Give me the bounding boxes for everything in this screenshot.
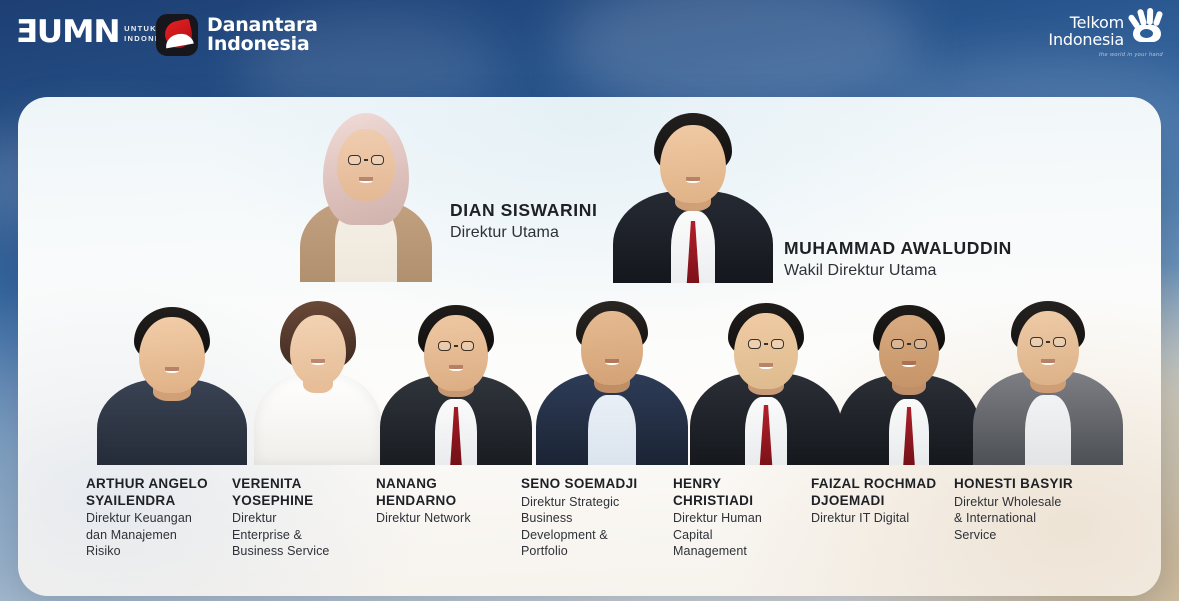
smile [165,367,179,373]
person-name: MUHAMMAD AWALUDDIN [784,237,1034,259]
glasses [348,155,384,165]
label-nanang-hendarno: NANANG HENDARNO Direktur Network [376,476,516,527]
presentation-slide: ƎUMN UNTUK INDONESIA Danantara Indonesia… [0,0,1179,601]
face [734,313,798,389]
telkom-logo: Telkom Indonesia the world in your hand [1035,8,1165,58]
label-faizal-rochmad-djoemadi: FAIZAL ROCHMAD DJOEMADI Direktur IT Digi… [811,476,961,527]
smile [449,365,463,371]
bumn-logo: ƎUMN UNTUK INDONESIA [18,17,178,48]
attire-shirt [1025,395,1071,465]
telkom-hand-icon [1129,8,1165,44]
person-role: Direktur IT Digital [811,510,961,527]
face [424,315,488,391]
person-role: Direktur Keuangan dan Manajemen Risiko [86,510,236,560]
smile [359,177,373,183]
portrait-arthur-angelo-syailendra [92,305,252,465]
portrait-muhammad-awaluddin [608,111,778,283]
person-name: FAIZAL ROCHMAD DJOEMADI [811,476,961,509]
person-role: Direktur Network [376,510,516,527]
danantara-wordmark: Danantara Indonesia [207,16,318,55]
person-role: Direktur Strategic Business Development … [521,494,666,560]
face [879,315,939,387]
person-name: HONESTI BASYIR [954,476,1104,493]
label-muhammad-awaluddin: MUHAMMAD AWALUDDIN Wakil Direktur Utama [784,237,1034,281]
person-name: HENRY CHRISTIADI [673,476,808,509]
bumn-wordmark: ƎUMN [16,17,120,48]
person-name: VERENITA YOSEPHINE [232,476,362,509]
label-arthur-angelo-syailendra: ARTHUR ANGELO SYAILENDRA Direktur Keuang… [86,476,236,560]
person-name: NANANG HENDARNO [376,476,516,509]
telkom-line2: Indonesia [1048,31,1124,48]
slide-header: ƎUMN UNTUK INDONESIA Danantara Indonesia… [0,0,1179,88]
glasses [891,339,927,349]
face [581,311,643,385]
label-henry-christiadi: HENRY CHRISTIADI Direktur Human Capital … [673,476,808,560]
telkom-line1: Telkom [1070,14,1124,31]
smile [686,177,700,183]
board-of-directors-card: DIAN SISWARINI Direktur Utama MUHAMMAD A… [18,97,1161,596]
face [1017,311,1079,385]
face [337,129,395,201]
label-seno-soemadji: SENO SOEMADJI Direktur Strategic Busines… [521,476,666,560]
person-role: Direktur Human Capital Management [673,510,808,560]
portrait-verenita-yosephine [248,301,388,465]
smile [759,363,773,369]
label-verenita-yosephine: VERENITA YOSEPHINE Direktur Enterprise &… [232,476,362,560]
label-honesti-basyir: HONESTI BASYIR Direktur Wholesale & Inte… [954,476,1104,543]
danantara-garuda-icon [156,14,198,56]
telkom-tagline: the world in your hand [1035,52,1163,58]
telkom-wordmark: Telkom Indonesia [1048,8,1124,48]
portrait-dian-siswarini [286,107,446,282]
face [139,317,205,393]
person-name: ARTHUR ANGELO SYAILENDRA [86,476,236,509]
face [290,315,346,385]
smile [605,359,619,365]
glasses [1030,337,1066,347]
portrait-seno-soemadji [532,299,692,465]
attire-shirt [588,395,636,465]
smile [902,361,916,367]
smile [311,359,325,365]
person-role: Wakil Direktur Utama [784,260,1034,281]
portrait-nanang-hendarno [376,303,536,465]
portrait-honesti-basyir [968,299,1128,465]
portrait-henry-christiadi [686,301,846,465]
person-name: SENO SOEMADJI [521,476,666,493]
person-role: Direktur Wholesale & International Servi… [954,494,1104,544]
smile [1041,359,1055,365]
danantara-logo: Danantara Indonesia [156,14,318,56]
portrait-faizal-rochmad-djoemadi [834,303,984,465]
danantara-line2: Indonesia [207,35,318,55]
glasses [438,341,474,351]
glasses [748,339,784,349]
person-role: Direktur Enterprise & Business Service [232,510,362,560]
face [660,125,726,203]
